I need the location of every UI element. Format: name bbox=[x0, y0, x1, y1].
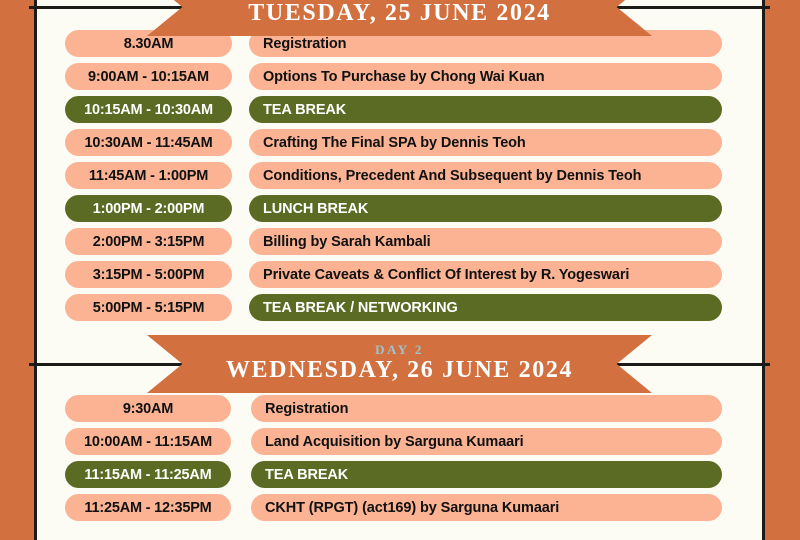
time-pill: 9:30AM bbox=[65, 395, 231, 422]
event-pill: Billing by Sarah Kambali bbox=[249, 228, 722, 255]
time-pill: 10:30AM - 11:45AM bbox=[65, 129, 232, 156]
schedule-row: 10:30AM - 11:45AMCrafting The Final SPA … bbox=[65, 129, 722, 156]
schedule-row: 3:15PM - 5:00PMPrivate Caveats & Conflic… bbox=[65, 261, 722, 288]
time-pill: 11:15AM - 11:25AM bbox=[65, 461, 231, 488]
schedule-row: 11:25AM - 12:35PMCKHT (RPGT) (act169) by… bbox=[65, 494, 722, 521]
schedule-row: 9:00AM - 10:15AMOptions To Purchase by C… bbox=[65, 63, 722, 90]
time-pill: 9:00AM - 10:15AM bbox=[65, 63, 232, 90]
event-pill: Conditions, Precedent And Subsequent by … bbox=[249, 162, 722, 189]
time-pill: 2:00PM - 3:15PM bbox=[65, 228, 232, 255]
day-banner: DAY 2WEDNESDAY, 26 JUNE 2024 bbox=[37, 333, 762, 395]
schedule-rows: 8.30AMRegistration9:00AM - 10:15AMOption… bbox=[37, 30, 762, 321]
event-pill: Crafting The Final SPA by Dennis Teoh bbox=[249, 129, 722, 156]
day-number-label: DAY 2 bbox=[375, 343, 424, 357]
schedule-row: 11:15AM - 11:25AMTEA BREAK bbox=[65, 461, 722, 488]
day-ribbon: DAY 1TUESDAY, 25 JUNE 2024 bbox=[147, 0, 652, 36]
time-pill: 11:45AM - 1:00PM bbox=[65, 162, 232, 189]
day-banner: DAY 1TUESDAY, 25 JUNE 2024 bbox=[37, 0, 762, 30]
event-pill: TEA BREAK bbox=[249, 96, 722, 123]
day-section: DAY 2WEDNESDAY, 26 JUNE 20249:30AMRegist… bbox=[37, 333, 762, 521]
time-pill: 1:00PM - 2:00PM bbox=[65, 195, 232, 222]
schedule-container: DAY 1TUESDAY, 25 JUNE 20248.30AMRegistra… bbox=[37, 0, 762, 521]
time-pill: 3:15PM - 5:00PM bbox=[65, 261, 232, 288]
event-pill: TEA BREAK bbox=[251, 461, 722, 488]
schedule-row: 5:00PM - 5:15PMTEA BREAK / NETWORKING bbox=[65, 294, 722, 321]
event-pill: Land Acquisition by Sarguna Kumaari bbox=[251, 428, 722, 455]
event-pill: TEA BREAK / NETWORKING bbox=[249, 294, 722, 321]
schedule-row: 1:00PM - 2:00PMLUNCH BREAK bbox=[65, 195, 722, 222]
schedule-row: 10:00AM - 11:15AMLand Acquisition by Sar… bbox=[65, 428, 722, 455]
schedule-rows: 9:30AMRegistration10:00AM - 11:15AMLand … bbox=[37, 395, 762, 521]
event-pill: Private Caveats & Conflict Of Interest b… bbox=[249, 261, 722, 288]
time-pill: 11:25AM - 12:35PM bbox=[65, 494, 231, 521]
schedule-row: 2:00PM - 3:15PMBilling by Sarah Kambali bbox=[65, 228, 722, 255]
time-pill: 5:00PM - 5:15PM bbox=[65, 294, 232, 321]
day-section: DAY 1TUESDAY, 25 JUNE 20248.30AMRegistra… bbox=[37, 0, 762, 321]
time-pill: 10:00AM - 11:15AM bbox=[65, 428, 231, 455]
schedule-row: 11:45AM - 1:00PMConditions, Precedent An… bbox=[65, 162, 722, 189]
time-pill: 10:15AM - 10:30AM bbox=[65, 96, 232, 123]
day-date-label: WEDNESDAY, 26 JUNE 2024 bbox=[226, 357, 573, 385]
event-pill: CKHT (RPGT) (act169) by Sarguna Kumaari bbox=[251, 494, 722, 521]
event-pill: LUNCH BREAK bbox=[249, 195, 722, 222]
poster-background: DAY 1TUESDAY, 25 JUNE 20248.30AMRegistra… bbox=[0, 0, 800, 540]
schedule-row: 10:15AM - 10:30AMTEA BREAK bbox=[65, 96, 722, 123]
event-pill: Options To Purchase by Chong Wai Kuan bbox=[249, 63, 722, 90]
schedule-row: 9:30AMRegistration bbox=[65, 395, 722, 422]
poster-inner-page: DAY 1TUESDAY, 25 JUNE 20248.30AMRegistra… bbox=[34, 0, 765, 540]
day-ribbon: DAY 2WEDNESDAY, 26 JUNE 2024 bbox=[147, 335, 652, 393]
day-date-label: TUESDAY, 25 JUNE 2024 bbox=[248, 0, 551, 28]
event-pill: Registration bbox=[251, 395, 722, 422]
